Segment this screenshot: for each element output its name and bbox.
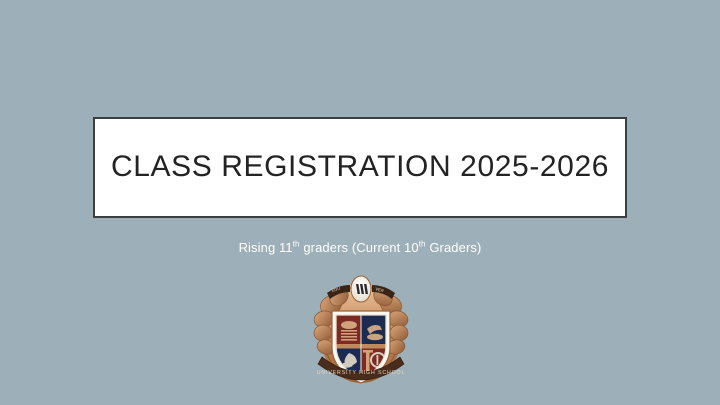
svg-text:UNIVERSITY HIGH SCHOOL: UNIVERSITY HIGH SCHOOL xyxy=(317,370,406,376)
subtitle-ordinal-10: th xyxy=(419,240,426,249)
subtitle-suffix: Graders) xyxy=(426,240,482,255)
subtitle-prefix: Rising 11 xyxy=(239,240,293,255)
slide-canvas: CLASS REGISTRATION 2025-2026 Rising 11th… xyxy=(0,0,720,405)
school-crest-icon: EDU VER xyxy=(305,271,417,387)
subtitle-middle: graders (Current 10 xyxy=(300,240,419,255)
title-box: CLASS REGISTRATION 2025-2026 xyxy=(93,117,627,218)
subtitle-ordinal-11: th xyxy=(293,240,300,249)
subtitle: Rising 11th graders (Current 10th Grader… xyxy=(0,240,720,256)
page-title: CLASS REGISTRATION 2025-2026 xyxy=(111,152,609,182)
